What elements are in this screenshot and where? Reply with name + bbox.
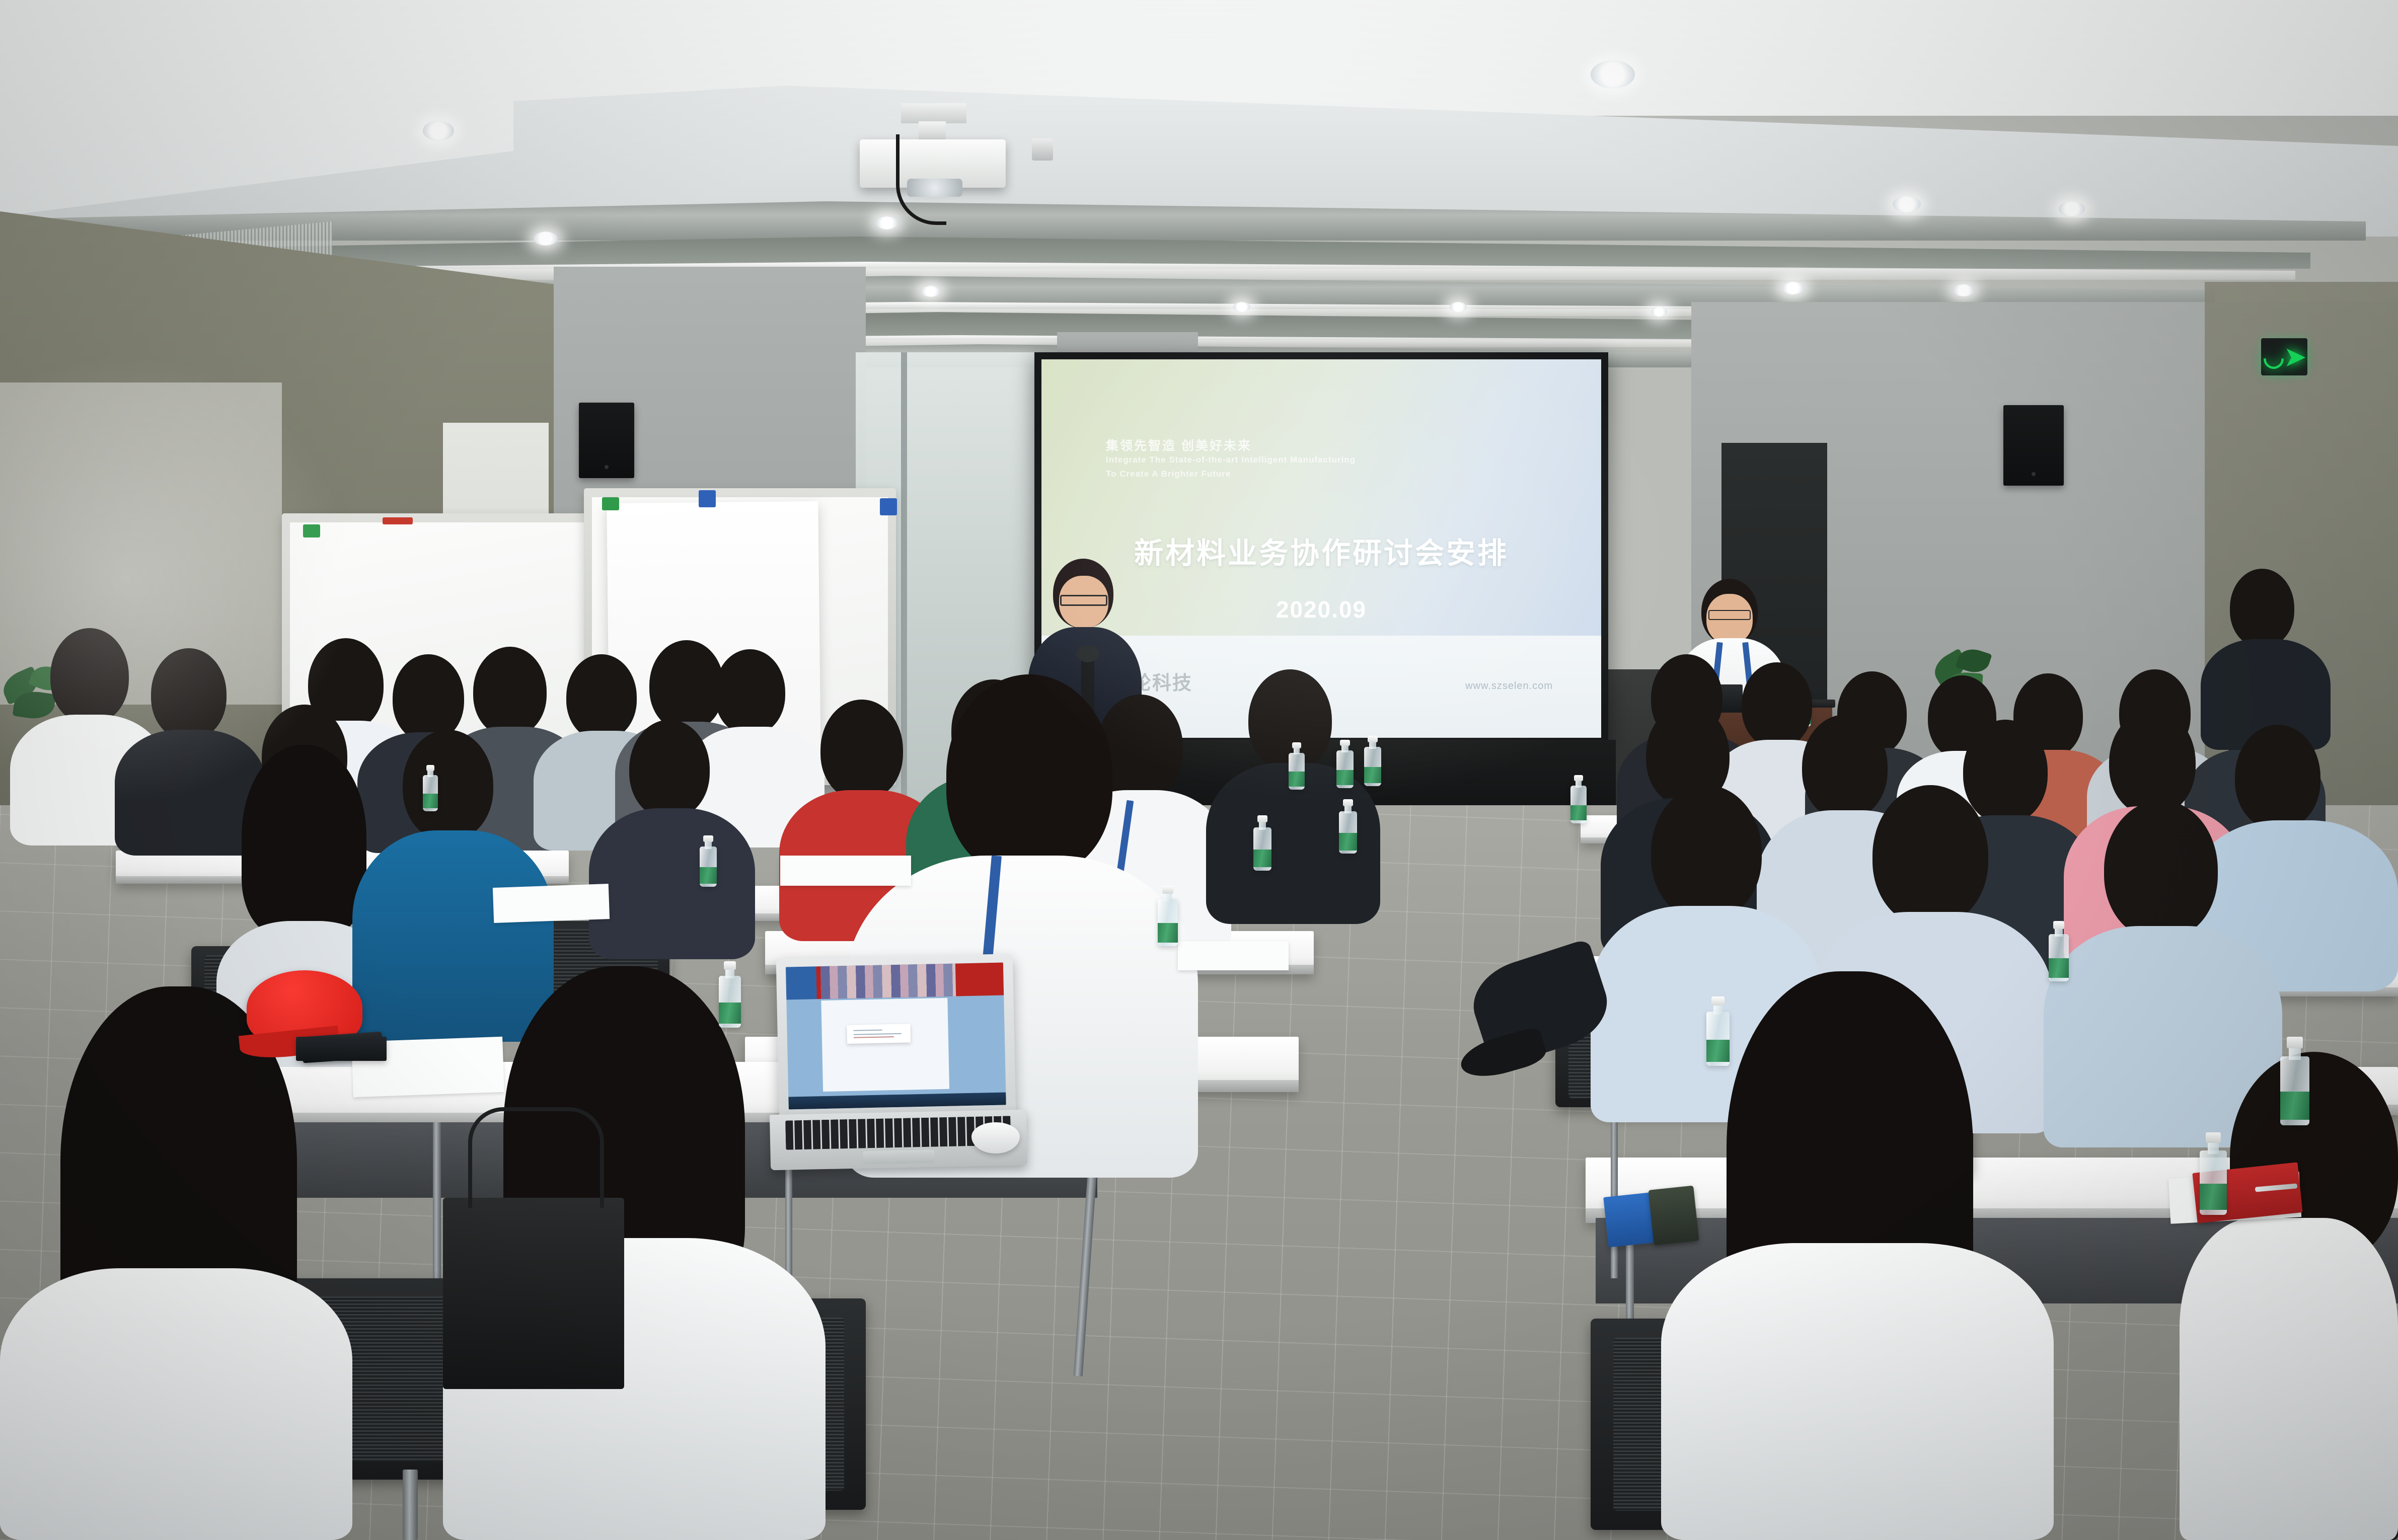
table-leg-right-2	[1611, 1107, 1618, 1278]
laptop-taskbar[interactable]	[788, 1092, 1006, 1110]
audience-head-l2	[151, 648, 227, 740]
audience-head-r16	[2104, 800, 2218, 939]
projector-assembly	[851, 103, 1017, 229]
audience-head-l16	[946, 674, 1112, 876]
laptop-dialog-box[interactable]	[847, 1024, 911, 1044]
audience-body-l10	[352, 830, 554, 1042]
audience-head-r2	[1742, 662, 1812, 748]
slide-website-url: www.szselen.com	[1465, 680, 1553, 692]
audience-head-l6	[566, 654, 637, 740]
paper-left-2	[493, 884, 610, 923]
sprinkler-head	[1032, 138, 1053, 161]
downlight-2	[1591, 60, 1635, 89]
bottle-3[interactable]	[1339, 799, 1357, 854]
audience-head-r8	[2230, 569, 2294, 647]
paper-left-4	[1178, 941, 1289, 970]
audience-head-l1	[50, 628, 129, 724]
audience-head-l10	[403, 730, 493, 840]
bottle-14[interactable]	[1289, 742, 1305, 790]
whiteboard-clip-green	[303, 524, 320, 537]
downlight-8	[1953, 284, 1974, 296]
flipchart-clip-blue-left	[699, 490, 716, 507]
notebook-left-dark[interactable]	[296, 1037, 387, 1061]
glass-mullion	[901, 352, 907, 800]
wall-speaker-left	[579, 403, 634, 478]
bottle-6[interactable]	[700, 835, 717, 887]
downlight-1	[423, 121, 454, 141]
downlight-13	[1651, 307, 1667, 317]
audience-body-r17	[1661, 1243, 2054, 1540]
projector-ceiling-plate	[901, 103, 966, 123]
conference-room-photo: ◡➤ 集领先智造 创美好未来 Integrate The State-of-th…	[0, 0, 2398, 1540]
downlight-11	[1233, 302, 1250, 312]
bottle-2[interactable]	[1364, 736, 1381, 786]
bottle-7[interactable]	[719, 961, 741, 1028]
bottle-13[interactable]	[2049, 921, 2069, 981]
smartphone-right[interactable]	[1648, 1186, 1699, 1246]
exit-running-man-icon: ◡➤	[2263, 344, 2306, 369]
paper-left-3	[780, 856, 911, 886]
bottle-1[interactable]	[1336, 740, 1354, 788]
slide-tagline-english-2: To Create A Brighter Future	[1106, 469, 1231, 479]
downlight-4	[2059, 201, 2085, 216]
laptop-trackpad[interactable]	[863, 1149, 935, 1164]
audience-body-r18	[2180, 1218, 2398, 1540]
back-wall-left-light	[0, 382, 282, 705]
downlight-12	[1450, 302, 1467, 312]
audience-head-r10	[1802, 715, 1888, 819]
bottle-5[interactable]	[1158, 886, 1178, 946]
audience-head-l8	[715, 649, 785, 735]
downlight-3	[1893, 196, 1921, 212]
microphone-head	[1076, 645, 1099, 662]
downlight-7	[1782, 282, 1804, 294]
bottle-11[interactable]	[2200, 1132, 2227, 1215]
downlight-5	[534, 232, 558, 246]
slide-tagline-chinese: 集领先智造 创美好未来	[1106, 436, 1252, 454]
audience-head-r12	[2109, 710, 2196, 815]
exit-sign-box: ◡➤	[2261, 338, 2307, 375]
bottle-8[interactable]	[423, 765, 438, 811]
audience-head-r14	[1651, 785, 1762, 920]
laptop-screen[interactable]	[786, 962, 1006, 1110]
bottle-9[interactable]	[1706, 996, 1730, 1066]
tote-bag[interactable]	[443, 1198, 624, 1389]
laptop-document-area	[821, 997, 949, 1092]
audience-hair-l9	[242, 745, 366, 936]
audience-head-l12	[820, 700, 903, 800]
audience-body-l18	[0, 1268, 352, 1540]
flipchart-clip-blue-right	[880, 498, 897, 515]
bottle-12[interactable]	[1570, 775, 1587, 823]
audience-head-l11	[629, 720, 710, 818]
audience-head-l7	[649, 640, 724, 731]
podium-speaker-glasses	[1708, 610, 1751, 620]
standing-speaker-glasses	[1060, 595, 1107, 606]
wall-speaker-right	[2003, 405, 2064, 486]
chair-post-left-1	[403, 1470, 418, 1540]
projector-cable	[896, 134, 946, 225]
audience-head-r15	[1872, 785, 1988, 926]
tote-bag-handle[interactable]	[468, 1107, 604, 1208]
audience-head-r13	[2235, 725, 2320, 829]
laptop-app-ribbon	[786, 962, 1004, 999]
audience-head-l5	[473, 647, 547, 736]
flipchart-clip-green	[602, 497, 619, 510]
audience-body-l11	[589, 808, 755, 959]
laptop-ribbon-banner-image	[820, 963, 956, 999]
bottle-10[interactable]	[2280, 1037, 2309, 1125]
audience-head-l4	[393, 654, 464, 742]
audience-head-r11	[1963, 720, 2048, 823]
laptop-lid[interactable]	[776, 954, 1016, 1125]
whiteboard-brand-mark	[383, 517, 413, 524]
downlight-10	[921, 286, 940, 297]
slide-tagline-english-1: Integrate The State-of-the-art Intellige…	[1106, 455, 1356, 465]
bottle-4[interactable]	[1253, 815, 1271, 871]
